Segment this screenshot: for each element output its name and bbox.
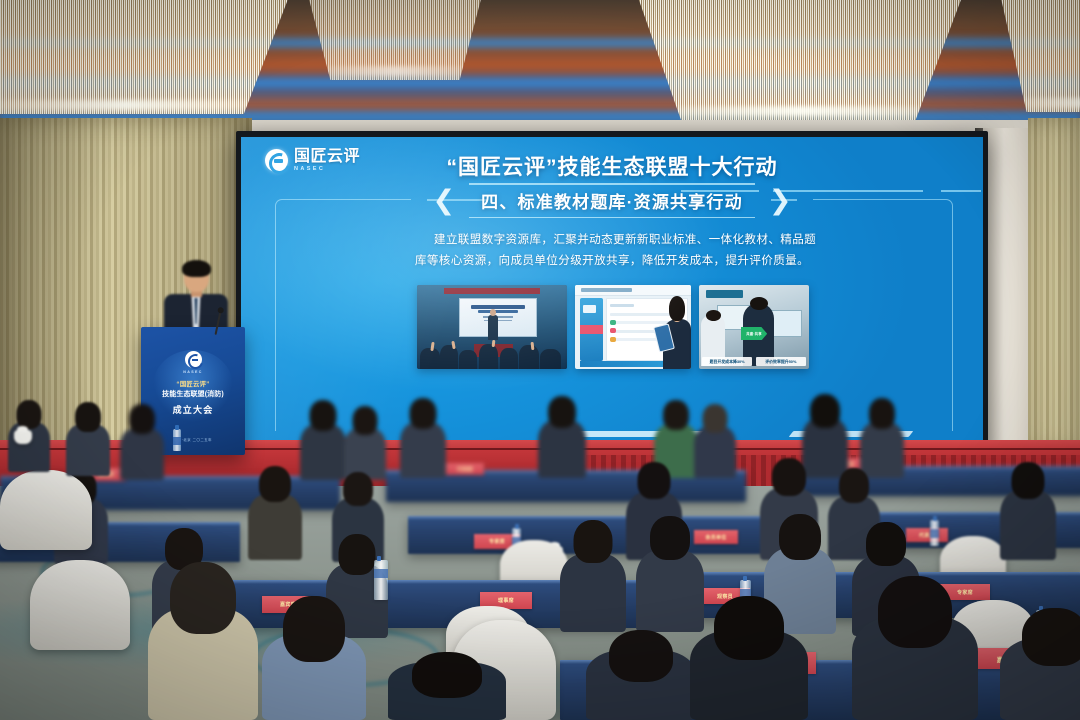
attendee — [300, 400, 346, 480]
chair — [30, 560, 130, 650]
attendee — [560, 520, 626, 632]
slide-body-line-2: 库等核心资源，向成员单位分级开放共享，降低开发成本，提升评价质量。 — [415, 254, 809, 267]
attendee — [388, 652, 506, 720]
attendee — [860, 398, 904, 478]
podium-speaker — [158, 262, 232, 332]
attendee — [694, 404, 736, 478]
slide-subtitle-band: ❮ 四、标准教材题库·资源共享行动 ❯ — [241, 185, 983, 216]
slide-title: “国匠云评”技能生态联盟十大行动 — [241, 151, 983, 181]
attendee — [148, 562, 258, 720]
podium-line-2: 技能生态联盟(消防) — [141, 389, 245, 399]
podium-logo-en: NASEC — [183, 370, 203, 374]
water-bottle — [173, 429, 181, 451]
attendee — [586, 630, 696, 720]
attendee — [400, 398, 446, 478]
lecture-hall-photo — [417, 285, 567, 369]
conference-hall-scene: 国匠云评 NASEC “国匠云评”技能生态联盟十大行动 ❮ 四、标准教材题库·资… — [0, 0, 1080, 720]
attendee — [1000, 608, 1080, 720]
chandelier-icon — [0, 0, 290, 114]
podium-logo-icon — [185, 351, 202, 368]
stage-curtain-right — [1028, 118, 1080, 453]
attendee — [690, 596, 808, 720]
attendee — [248, 466, 302, 560]
attendee — [120, 404, 164, 480]
ceiling — [0, 0, 1080, 132]
stat-badge-cost: 题目开发成本降30% — [702, 357, 752, 366]
chevron-left-icon: ❮ — [433, 187, 456, 214]
podium-line-1: “国匠云评” — [141, 379, 245, 388]
share-arrow-label: 共建·共享 — [746, 331, 762, 336]
chevron-right-icon: ❯ — [769, 187, 792, 214]
stat-badge-efficiency: 评价效率提升50% — [756, 357, 806, 366]
table-row: 代表席 — [446, 463, 484, 475]
slide-body-text: 建立联盟数字资源库，汇聚并动态更新新职业标准、一体化教材、精品题 库等核心资源，… — [381, 229, 843, 272]
dashboard-screenshot-photo — [575, 285, 691, 369]
attendee — [344, 406, 386, 480]
chandelier-icon — [630, 0, 970, 120]
workplace-photo: 共建·共享 题目开发成本降30% 评价效率提升50% — [699, 285, 809, 369]
attendee — [852, 576, 978, 720]
door-frame — [983, 128, 1029, 458]
attendee — [66, 402, 110, 476]
slide-photo-strip: 共建·共享 题目开发成本降30% 评价效率提升50% — [417, 285, 809, 369]
slide-subtitle: 四、标准教材题库·资源共享行动 — [481, 193, 743, 212]
chair — [0, 470, 92, 550]
chandelier-icon — [300, 0, 490, 80]
slide-body-line-1: 建立联盟数字资源库，汇聚并动态更新新职业标准、一体化教材、精品题 — [408, 229, 816, 250]
stat-badges: 题目开发成本降30% 评价效率提升50% — [702, 357, 805, 366]
attendee — [1000, 462, 1056, 560]
attendee — [538, 396, 586, 478]
attendee — [262, 596, 366, 720]
